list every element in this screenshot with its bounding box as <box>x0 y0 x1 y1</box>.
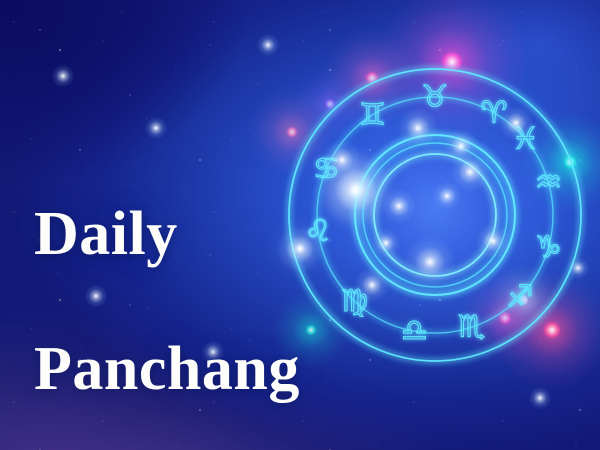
star-sparkle <box>498 105 534 141</box>
zodiac-sign-scorpio: ♏ <box>458 310 485 345</box>
star-sparkle <box>51 64 75 88</box>
zodiac-sign-libra: ♎ <box>401 314 428 349</box>
star-sparkle <box>432 181 462 211</box>
star-sparkle <box>566 256 590 280</box>
star-sparkle <box>475 223 511 259</box>
title-line-1: Daily <box>34 205 354 265</box>
page-title: Daily Panchang <box>34 146 354 450</box>
star-sparkle <box>381 188 417 224</box>
star-sparkle <box>354 267 390 303</box>
star-sparkle <box>256 33 280 57</box>
star-sparkle <box>528 386 552 410</box>
star-sparkle <box>371 228 401 258</box>
star-sparkle <box>144 116 168 140</box>
zodiac-sign-gemini: ♊ <box>359 97 386 132</box>
zodiac-sign-capricorn: ♑ <box>535 230 562 265</box>
zodiac-sign-sagittarius: ♐ <box>506 280 533 315</box>
panchang-banner: ♈♉♊♋♌♍♎♏♐♑♒♓ Daily Panchang <box>0 0 600 450</box>
title-line-2: Panchang <box>34 340 354 400</box>
star-sparkle <box>443 128 479 164</box>
star-sparkle <box>403 235 457 289</box>
zodiac-sign-aquarius: ♒ <box>535 165 562 200</box>
star-sparkle <box>397 107 439 149</box>
